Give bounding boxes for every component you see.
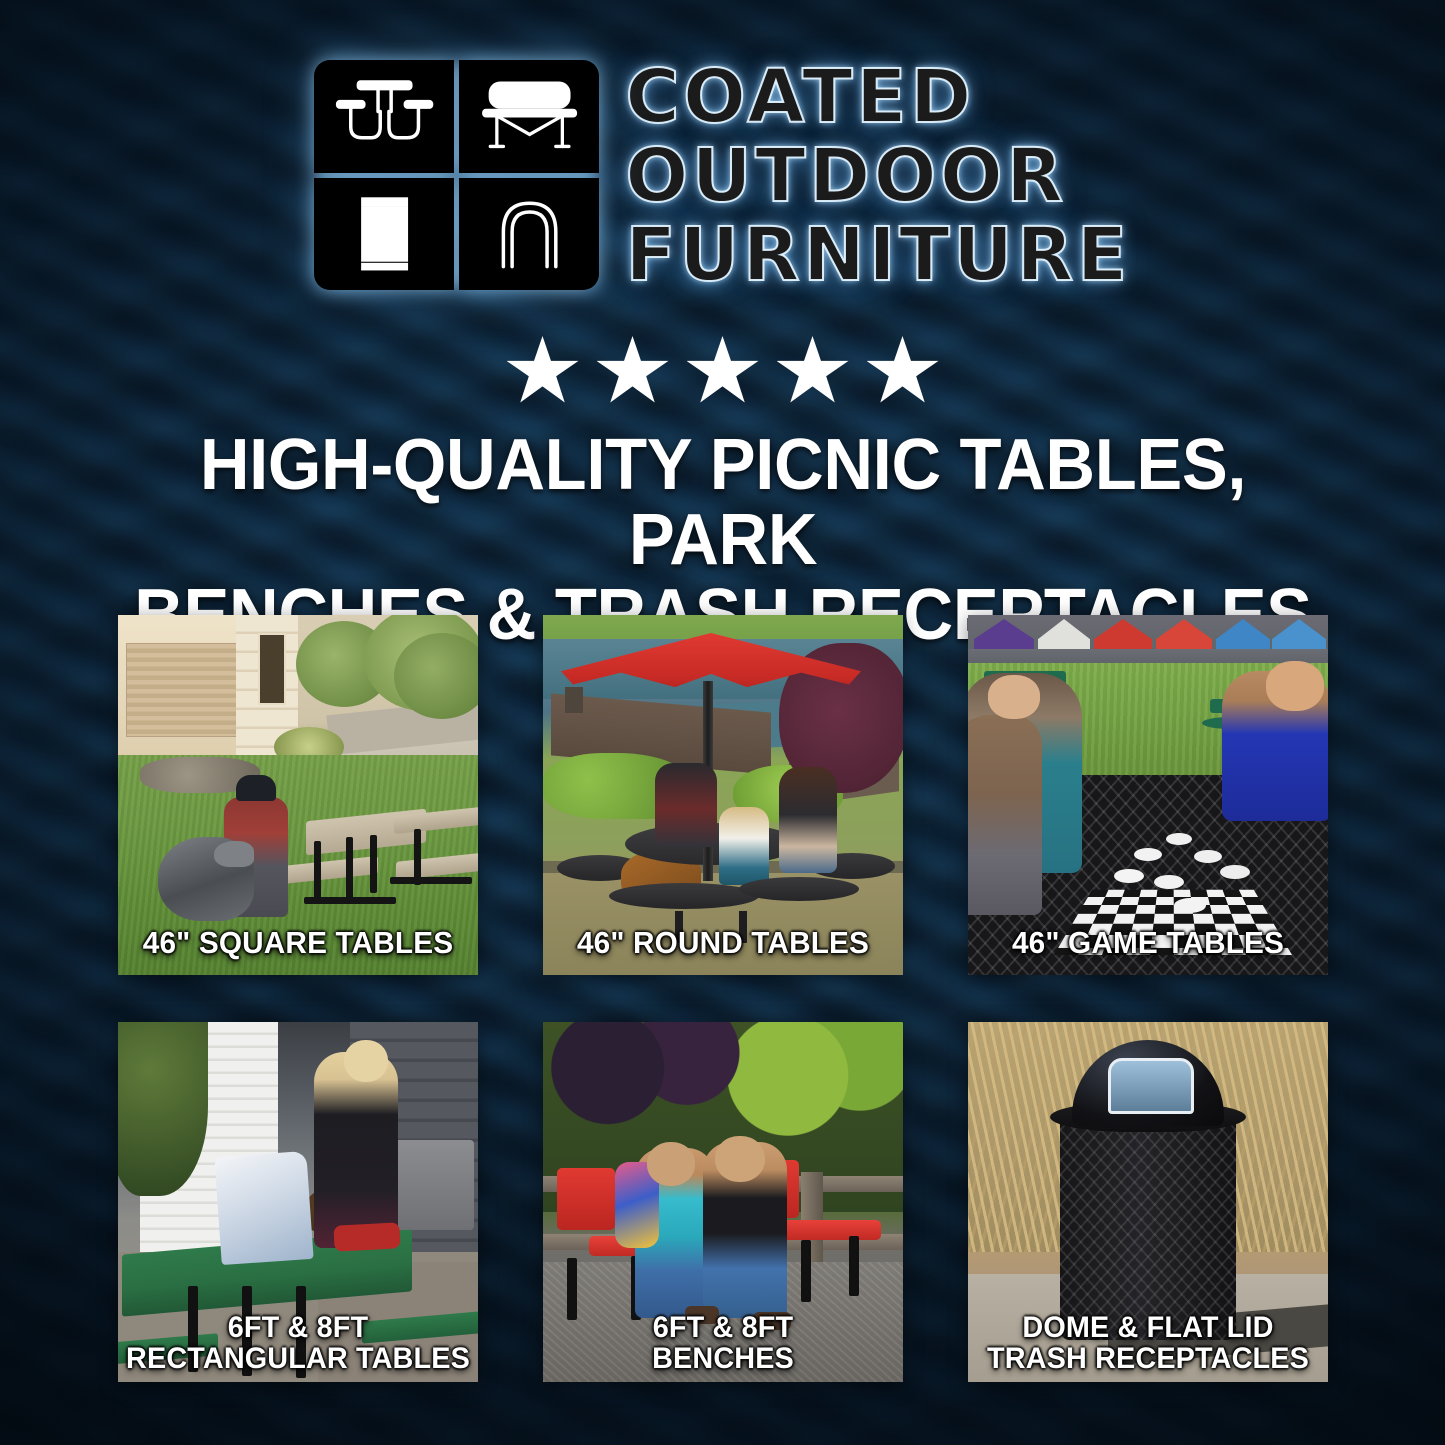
park-bench-icon (459, 60, 599, 173)
caption-line-1: 6FT & 8FT (550, 1312, 896, 1343)
headline-line-1: HIGH-QUALITY PICNIC TABLES, PARK (107, 428, 1339, 578)
brand-name-line-3: FURNITURE (625, 220, 1130, 291)
picnic-table-icon (314, 60, 454, 173)
caption-line-2: TRASH RECEPTACLES (975, 1343, 1321, 1374)
star-icon (597, 336, 669, 406)
trash-receptacle-icon (314, 178, 454, 291)
star-icon (507, 336, 579, 406)
caption-line-1: 6FT & 8FT (125, 1312, 471, 1343)
star-icon (777, 336, 849, 406)
product-photo-game-tables (968, 615, 1328, 975)
product-caption: 46" SQUARE TABLES (118, 927, 478, 959)
product-tile-square-tables[interactable]: 46" SQUARE TABLES (118, 615, 478, 975)
brand-logo: COATED OUTDOOR FURNITURE (0, 60, 1445, 291)
product-tile-game-tables[interactable]: 46" GAME TABLES (968, 615, 1328, 975)
caption-line-1: 46" SQUARE TABLES (125, 927, 471, 959)
caption-line-2: BENCHES (550, 1343, 896, 1374)
caption-line-1: 46" ROUND TABLES (550, 927, 896, 959)
brand-wordmark: COATED OUTDOOR FURNITURE (625, 60, 1130, 291)
product-tile-round-tables[interactable]: 46" ROUND TABLES (543, 615, 903, 975)
promo-poster: COATED OUTDOOR FURNITURE HIGH-QUALITY PI… (0, 0, 1445, 1445)
product-tile-rectangular-tables[interactable]: 6FT & 8FT RECTANGULAR TABLES (118, 1022, 478, 1382)
star-icon (687, 336, 759, 406)
star-rating (0, 336, 1445, 406)
product-tile-benches[interactable]: 6FT & 8FT BENCHES (543, 1022, 903, 1382)
product-photo-square-tables (118, 615, 478, 975)
brand-name-line-1: COATED (625, 62, 1130, 133)
caption-line-1: DOME & FLAT LID (975, 1312, 1321, 1343)
product-caption: DOME & FLAT LID TRASH RECEPTACLES (968, 1312, 1328, 1374)
product-caption: 46" GAME TABLES (968, 927, 1328, 959)
logo-mark (314, 60, 599, 290)
bike-rack-icon (459, 178, 599, 291)
brand-name-line-2: OUTDOOR (625, 141, 1130, 212)
caption-line-2: RECTANGULAR TABLES (125, 1343, 471, 1374)
product-photo-round-tables (543, 615, 903, 975)
product-caption: 46" ROUND TABLES (543, 927, 903, 959)
product-caption: 6FT & 8FT BENCHES (543, 1312, 903, 1374)
star-icon (867, 336, 939, 406)
product-grid: 46" SQUARE TABLES (118, 615, 1328, 1382)
caption-line-1: 46" GAME TABLES (975, 927, 1321, 959)
product-tile-trash-receptacles[interactable]: DOME & FLAT LID TRASH RECEPTACLES (968, 1022, 1328, 1382)
product-caption: 6FT & 8FT RECTANGULAR TABLES (118, 1312, 478, 1374)
